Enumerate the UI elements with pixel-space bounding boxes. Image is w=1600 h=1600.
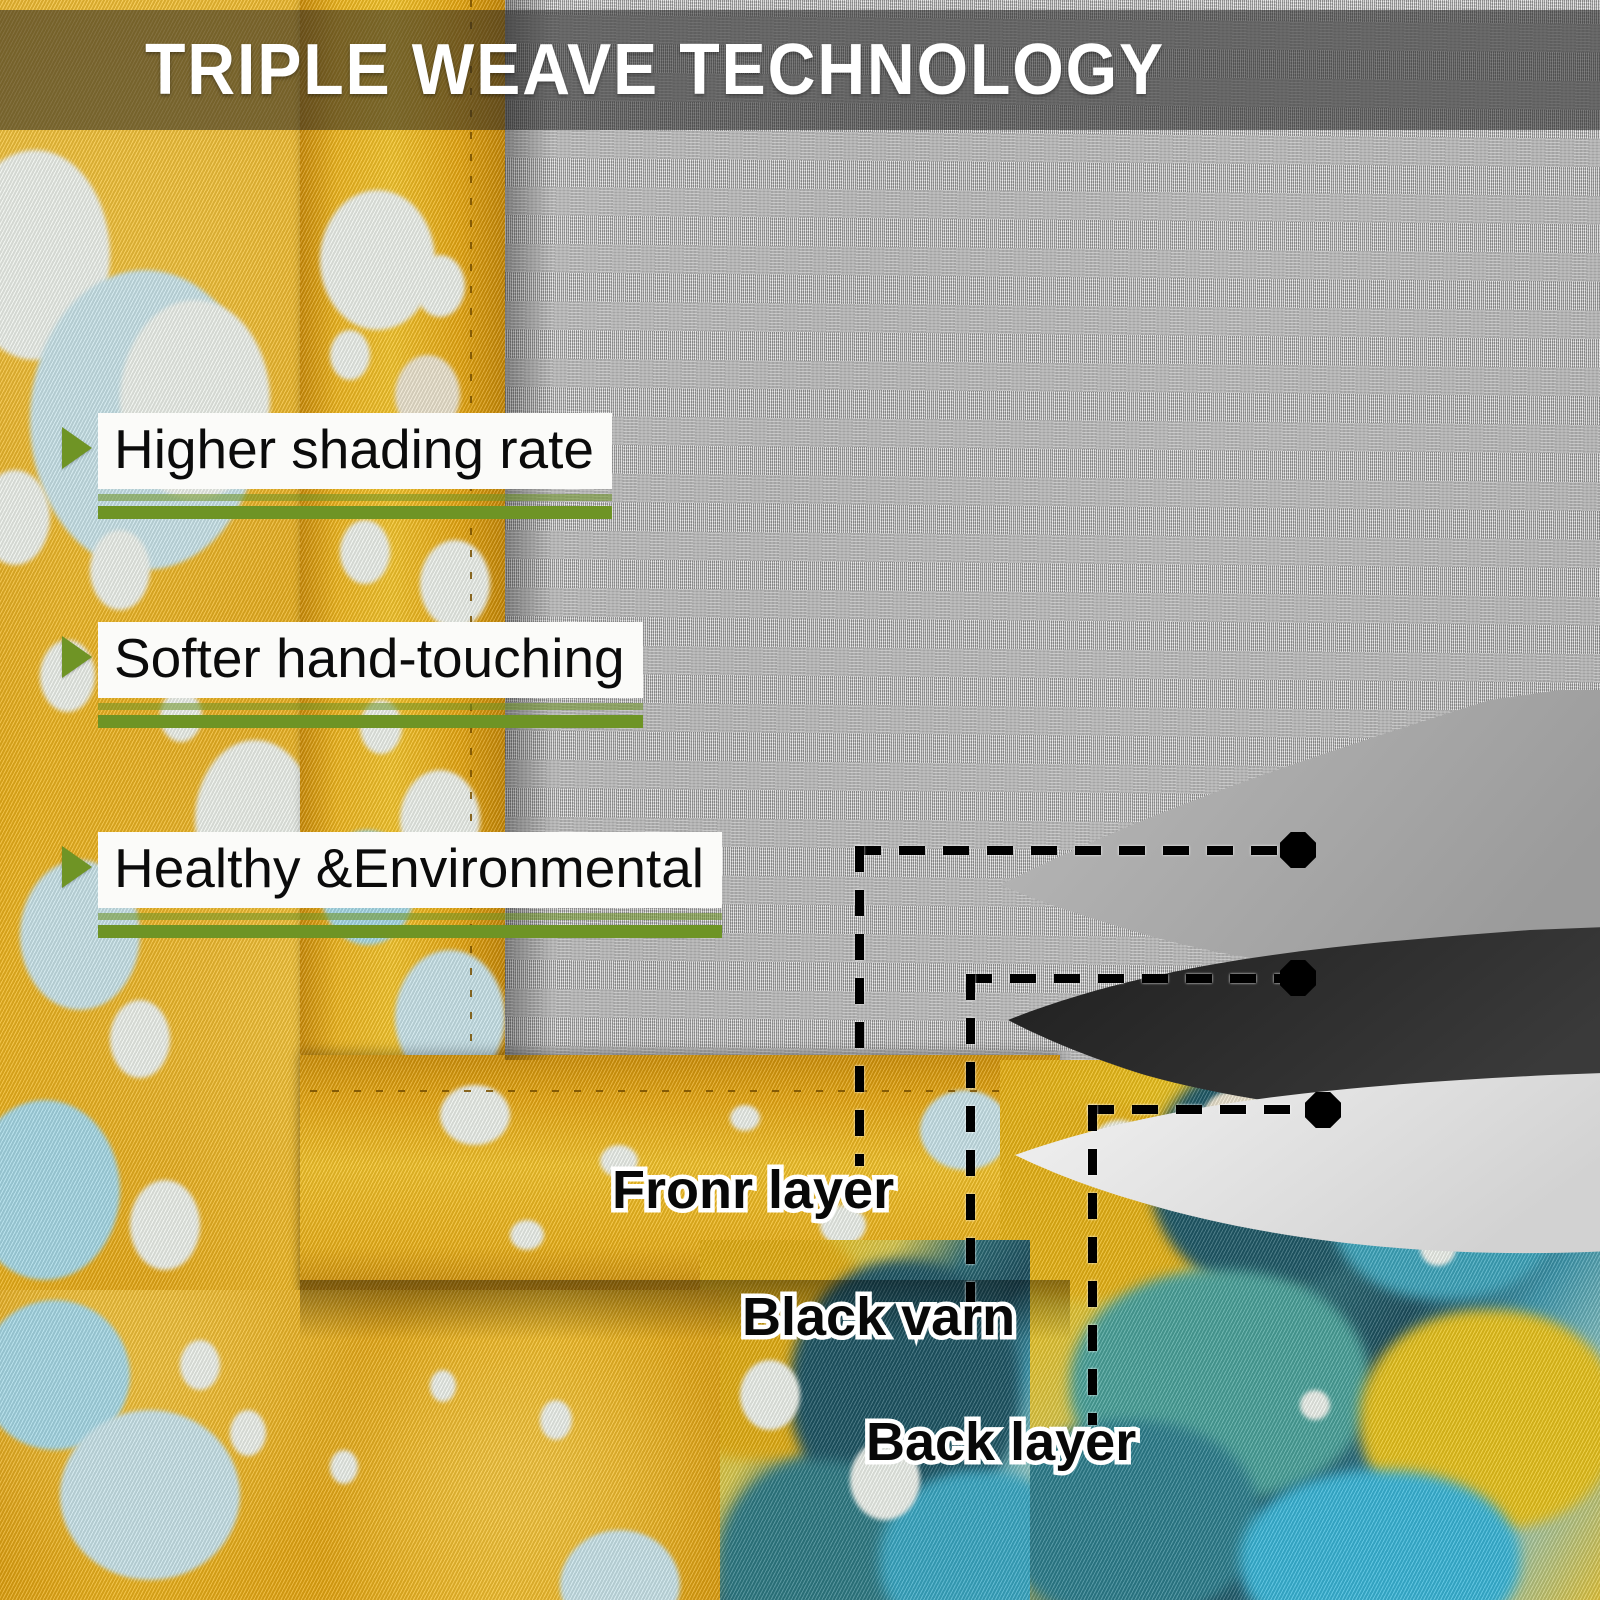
leader-line-back-horizontal	[1088, 1105, 1333, 1114]
header-banner: TRIPLE WEAVE TECHNOLOGY	[0, 10, 1600, 130]
feature-item-softness[interactable]: Softer hand-touching	[62, 622, 643, 728]
feature-underline-thick	[98, 715, 643, 728]
octagon-dot-icon-front	[1280, 832, 1316, 868]
feature-item-environment[interactable]: Healthy &Environmental	[62, 832, 722, 938]
triangle-right-icon	[62, 427, 92, 469]
layer-label-back: Back layer	[866, 1415, 1136, 1469]
product-infographic: Fronr layer Black varn Back layer TRIPLE…	[0, 0, 1600, 1600]
back-layer-swatch	[1015, 1072, 1600, 1253]
leader-line-back-vertical	[1088, 1105, 1097, 1425]
page-title: TRIPLE WEAVE TECHNOLOGY	[145, 34, 1165, 106]
feature-underline-thin	[98, 913, 722, 920]
triangle-right-icon	[62, 636, 92, 678]
triangle-right-icon	[62, 846, 92, 888]
feature-label-shading: Higher shading rate	[98, 413, 612, 489]
octagon-dot-icon-back	[1305, 1092, 1341, 1128]
feature-underline-thin	[98, 494, 612, 501]
leader-line-yarn-horizontal	[966, 974, 1306, 983]
feature-label-environment: Healthy &Environmental	[98, 832, 722, 908]
leader-line-front-vertical	[855, 846, 864, 1166]
feature-underline-thick	[98, 925, 722, 938]
leader-line-front-horizontal	[855, 846, 1305, 855]
leader-line-yarn-vertical	[966, 974, 975, 1314]
feature-underline-thin	[98, 703, 643, 710]
octagon-dot-icon-yarn	[1280, 960, 1316, 996]
lower-left-fabric	[0, 1290, 720, 1600]
layer-label-front: Fronr layer	[612, 1163, 894, 1217]
feature-item-shading[interactable]: Higher shading rate	[62, 413, 612, 519]
feature-label-softness: Softer hand-touching	[98, 622, 643, 698]
feature-underline-thick	[98, 506, 612, 519]
layer-label-yarn: Black varn	[742, 1290, 1015, 1344]
